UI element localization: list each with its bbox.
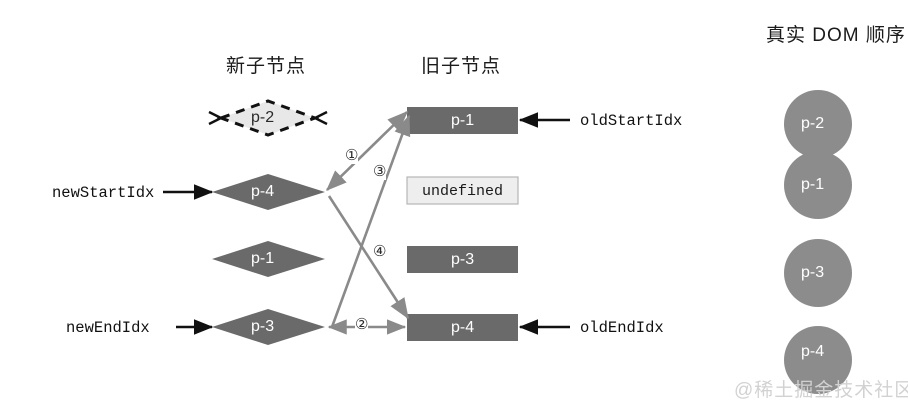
watermark: @稀土掘金技术社区 (734, 375, 908, 402)
old-node-p-3 (407, 246, 518, 273)
label-old-end-idx: oldEndIdx (580, 319, 664, 337)
new-node-p-4 (212, 174, 325, 210)
old-node-p-4 (407, 314, 518, 341)
header-dom-order: 真实 DOM 顺序 (766, 20, 906, 47)
header-old-children: 旧子节点 (421, 51, 501, 78)
dom-node-p-2 (784, 90, 852, 158)
diagram-canvas: 新子节点 旧子节点 真实 DOM 顺序 newStartIdx newEndId… (0, 0, 908, 407)
label-new-start-idx: newStartIdx (52, 184, 154, 202)
new-node-p-2 (209, 101, 327, 135)
new-node-p-3 (212, 309, 325, 345)
dom-node-p-3 (784, 239, 852, 307)
step-number-3: ③ (373, 165, 386, 180)
old-node-p-1 (407, 107, 518, 134)
step-number-1: ① (345, 149, 358, 164)
step-number-2: ② (355, 318, 368, 333)
label-new-end-idx: newEndIdx (66, 319, 150, 337)
dom-node-p-1 (784, 151, 852, 219)
step-number-4: ④ (373, 245, 386, 260)
old-node-label-undefined: undefined (422, 183, 503, 200)
header-new-children: 新子节点 (226, 51, 306, 78)
new-node-p-1 (212, 241, 325, 277)
label-old-start-idx: oldStartIdx (580, 112, 682, 130)
